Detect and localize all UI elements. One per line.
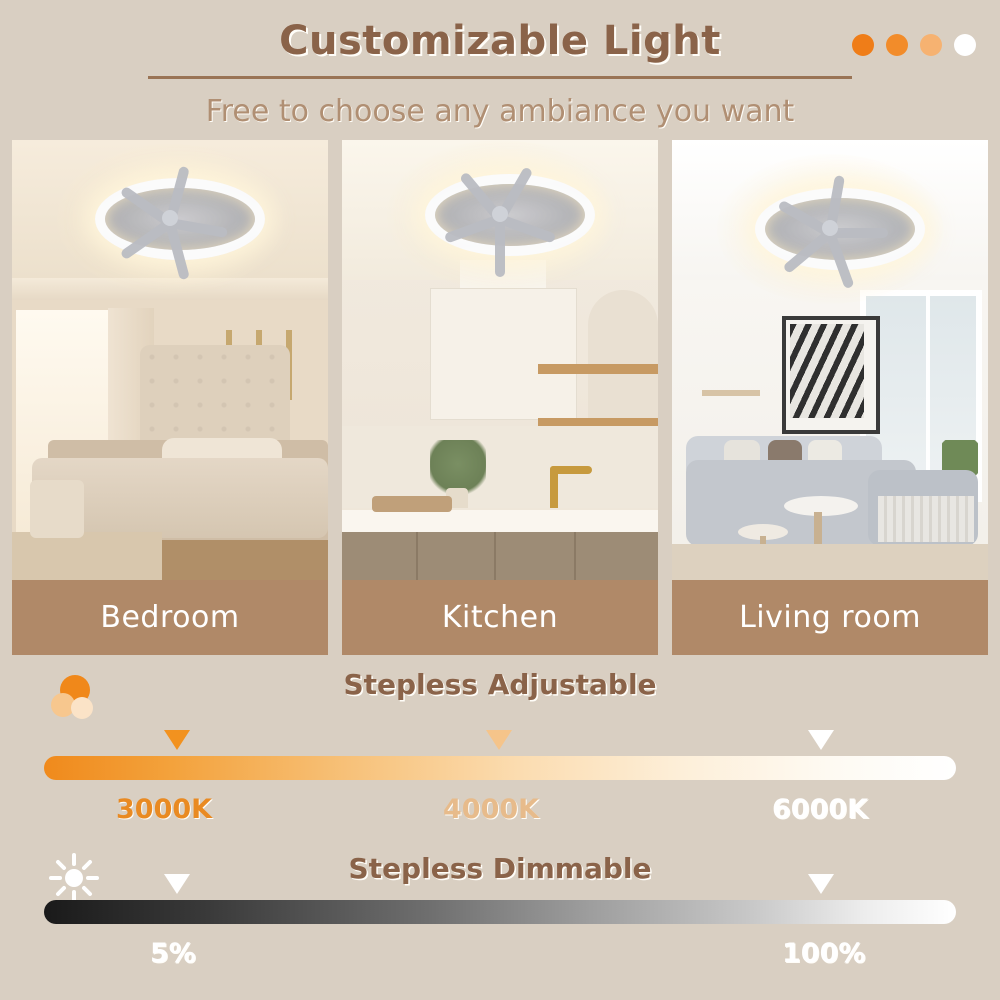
color-bulb-icon: [44, 672, 102, 730]
dot-peach-icon: [920, 34, 942, 56]
dimming-slider-track[interactable]: [44, 900, 956, 924]
ceiling-fan-light-icon: [425, 174, 575, 254]
room-card-list: Bedroom: [12, 140, 988, 655]
living-room-caption: Living room: [672, 580, 988, 655]
cct-title: Stepless Adjustable: [0, 668, 1000, 701]
color-dots: [852, 34, 976, 56]
dimming-title: Stepless Dimmable: [0, 852, 1000, 885]
marker-4000k[interactable]: [486, 730, 512, 750]
sun-icon: [48, 852, 100, 904]
room-card-bedroom[interactable]: Bedroom: [12, 140, 328, 655]
dot-orange-dark-icon: [852, 34, 874, 56]
bedroom-photo: [12, 140, 328, 580]
marker-6000k[interactable]: [808, 730, 834, 750]
marker-100-percent[interactable]: [808, 874, 834, 894]
cct-slider-track[interactable]: [44, 756, 956, 780]
dimming-label-max: 100%: [782, 938, 865, 969]
kitchen-photo: [342, 140, 658, 580]
bedroom-caption: Bedroom: [12, 580, 328, 655]
ceiling-fan-light-icon: [95, 178, 245, 258]
cct-label-3000k: 3000K: [116, 794, 212, 825]
dot-orange-icon: [886, 34, 908, 56]
kitchen-caption: Kitchen: [342, 580, 658, 655]
room-card-kitchen[interactable]: Kitchen: [342, 140, 658, 655]
cct-section: Stepless Adjustable 3000K 4000K 6000K: [0, 668, 1000, 838]
ceiling-fan-light-icon: [755, 188, 905, 268]
title-divider: [148, 76, 852, 79]
living-room-photo: [672, 140, 988, 580]
marker-3000k[interactable]: [164, 730, 190, 750]
cct-label-6000k: 6000K: [772, 794, 868, 825]
page-title: Customizable Light: [0, 18, 1000, 64]
cct-label-4000k: 4000K: [443, 794, 539, 825]
room-card-living-room[interactable]: Living room: [672, 140, 988, 655]
dimming-section: Stepless Dimmable 5% 1: [0, 852, 1000, 992]
dot-white-icon: [954, 34, 976, 56]
marker-5-percent[interactable]: [164, 874, 190, 894]
promo-page: Customizable Light Free to choose any am…: [0, 0, 1000, 1000]
dimming-label-min: 5%: [150, 938, 196, 969]
page-subtitle: Free to choose any ambiance you want: [0, 94, 1000, 129]
